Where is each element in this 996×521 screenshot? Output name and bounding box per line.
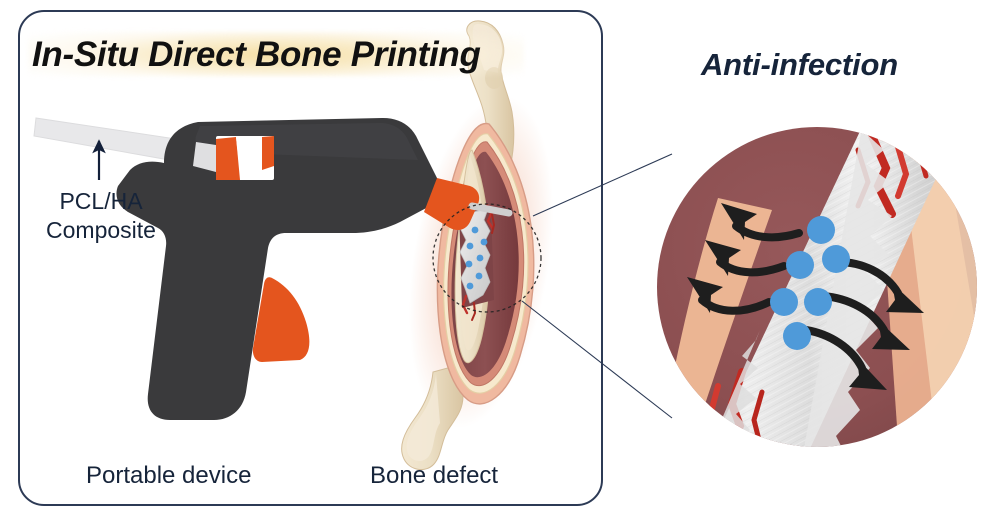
magnified-blood-streaks-right [858,136,926,214]
main-title-text: In-Situ Direct Bone Printing [32,28,481,82]
drug-particle [786,251,814,279]
material-label-line1: PCL/HA [26,187,176,216]
drug-particle [783,322,811,350]
caption-portable-device: Portable device [86,462,251,490]
graphical-abstract-figure: In-Situ Direct Bone Printing Anti-infect… [0,0,996,521]
drug-particle [822,245,850,273]
magnified-anti-infection-view [600,118,996,470]
anti-infection-title: Anti-infection [701,47,898,83]
magnifier-background [657,127,977,447]
left-panel-border [18,10,603,506]
magnified-blood-streaks-left [694,372,762,452]
material-label-line2: Composite [26,216,176,245]
main-title: In-Situ Direct Bone Printing [28,28,528,82]
magnified-tissue-left [660,198,772,452]
drug-release-arrows-right [806,262,898,368]
drug-release-arrowheads-left [687,203,757,313]
drug-particle [804,288,832,316]
drug-particle [770,288,798,316]
magnified-scaffold-band [700,127,960,470]
drug-release-arrowheads-right [849,283,924,390]
caption-bone-defect: Bone defect [370,462,498,490]
drug-particle [807,216,835,244]
drug-release-arrows-left [702,226,799,311]
magnified-tissue-right [876,120,996,470]
material-label: PCL/HA Composite [26,187,176,245]
drug-particles [770,216,850,350]
